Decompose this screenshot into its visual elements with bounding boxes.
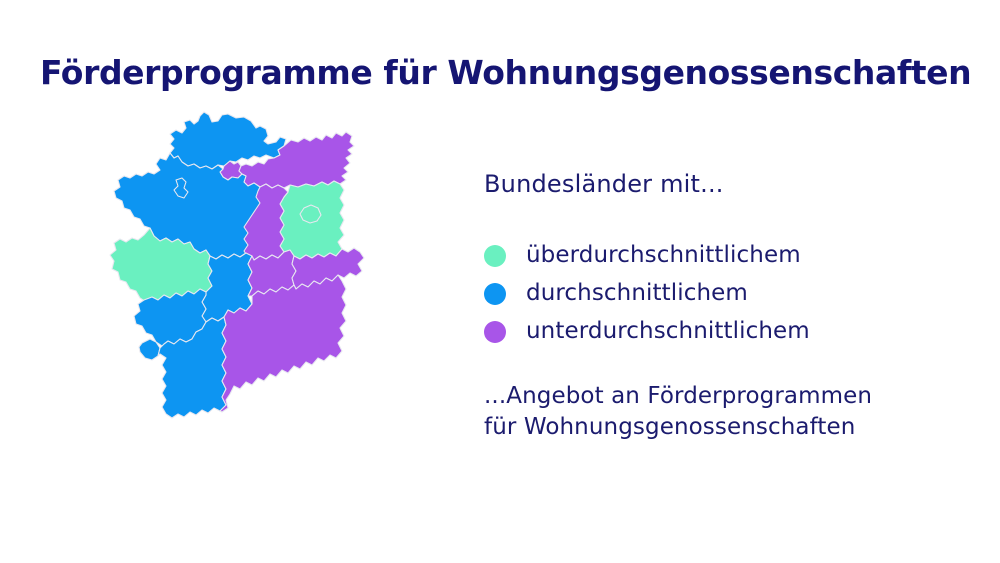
- legend-heading: Bundesländer mit...: [484, 170, 954, 199]
- legend-label-above-average: überdurchschnittlichem: [526, 242, 801, 270]
- infographic-page: Förderprogramme für Wohnungsgenossenscha…: [0, 0, 1000, 563]
- legend-footer-line-2: für Wohnungsgenossenschaften: [484, 412, 954, 443]
- legend-label-average: durchschnittlichem: [526, 280, 748, 308]
- legend-footer: ...Angebot an Förderprogrammen für Wohnu…: [484, 381, 954, 443]
- page-title: Förderprogramme für Wohnungsgenossenscha…: [40, 54, 970, 92]
- legend-footer-line-1: ...Angebot an Förderprogrammen: [484, 381, 954, 412]
- legend-swatch-below-average-icon: [484, 321, 506, 343]
- legend-list: überdurchschnittlichem durchschnittliche…: [484, 237, 954, 351]
- legend-label-below-average: unterdurchschnittlichem: [526, 318, 810, 346]
- legend-swatch-above-average-icon: [484, 245, 506, 267]
- legend-item-above-average[interactable]: überdurchschnittlichem: [484, 237, 954, 275]
- legend-item-average[interactable]: durchschnittlichem: [484, 275, 954, 313]
- legend-swatch-average-icon: [484, 283, 506, 305]
- map-svg: [108, 108, 408, 510]
- legend: Bundesländer mit... überdurchschnittlich…: [484, 170, 954, 443]
- germany-choropleth-map: [108, 108, 408, 510]
- legend-item-below-average[interactable]: unterdurchschnittlichem: [484, 313, 954, 351]
